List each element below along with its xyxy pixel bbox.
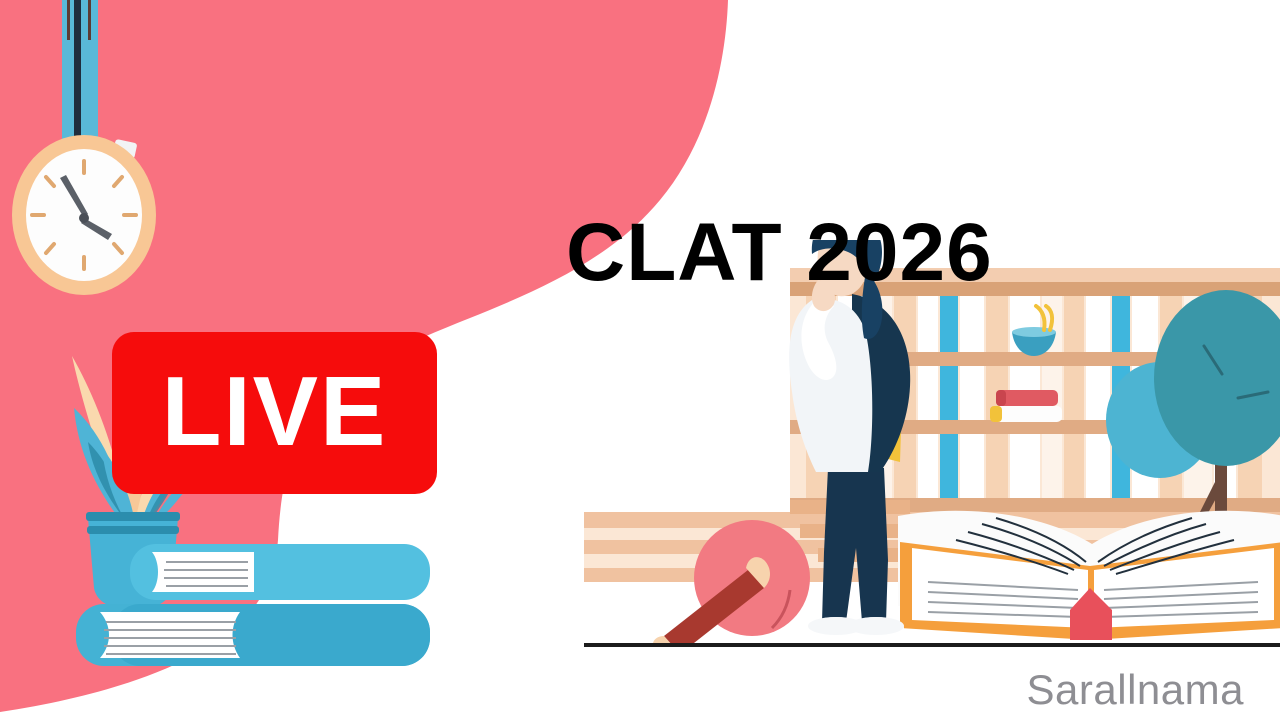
live-badge[interactable]: LIVE bbox=[112, 332, 437, 494]
live-badge-label: LIVE bbox=[162, 362, 388, 460]
page-title: CLAT 2026 bbox=[566, 212, 993, 294]
watermark-text: Sarallnama bbox=[1027, 666, 1244, 714]
stacked-book-upper bbox=[130, 544, 430, 600]
thumbnail-canvas: CLAT 2026 LIVE Sarallnama bbox=[0, 0, 1280, 720]
stacked-book-lower bbox=[76, 604, 430, 666]
